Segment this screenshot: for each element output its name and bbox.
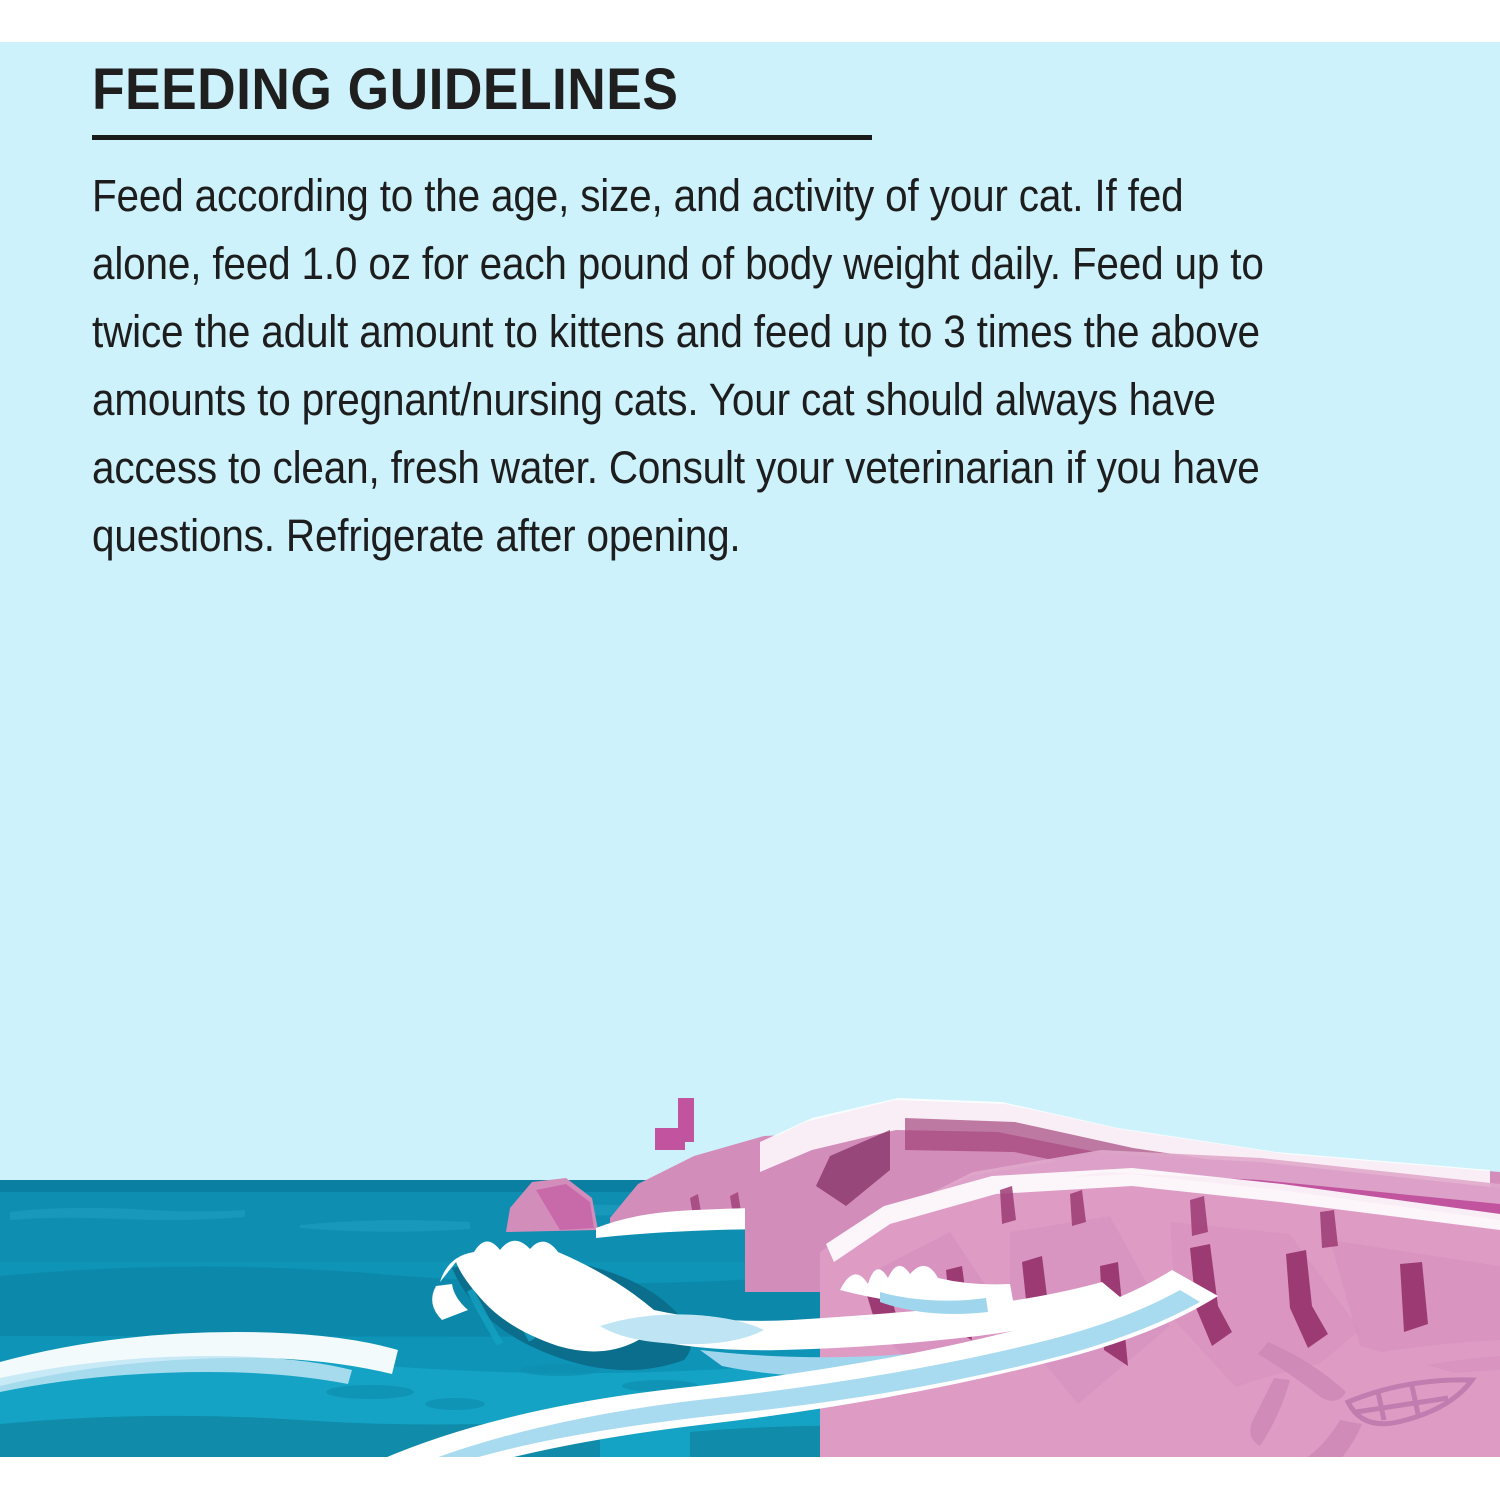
tower-base: [655, 1128, 685, 1150]
feeding-instructions-paragraph: Feed according to the age, size, and act…: [92, 140, 1271, 570]
text-content-block: FEEDING GUIDELINES Feed according to the…: [92, 42, 1412, 570]
page-title: FEEDING GUIDELINES: [92, 42, 1306, 122]
top-white-bleed-band: [0, 0, 1500, 42]
coastal-scene-illustration: [0, 1040, 1500, 1460]
product-label-panel: FEEDING GUIDELINES Feed according to the…: [0, 0, 1500, 1500]
bottom-white-bleed-band: [0, 1457, 1500, 1500]
